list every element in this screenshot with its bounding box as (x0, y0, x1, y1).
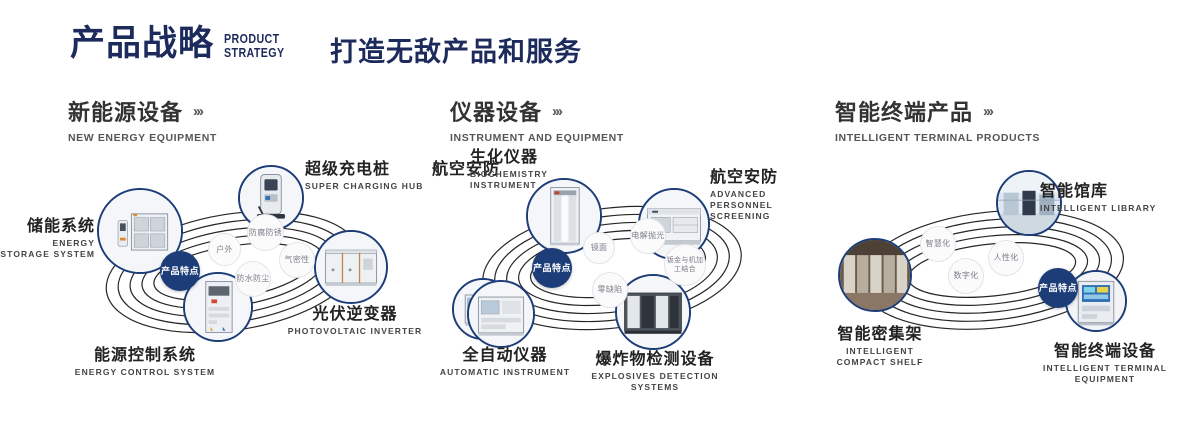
chevron-right-icon: ››› (552, 103, 561, 120)
label-photovoltaic-inverter: 光伏逆变器 PHOTOVOLTAIC INVERTER (285, 305, 425, 337)
node-label-cn: 光伏逆变器 (285, 305, 425, 324)
section-title-new-energy: 新能源设备 ››› NEW ENERGY EQUIPMENT (68, 95, 217, 144)
node-label-en: PHOTOVOLTAIC INVERTER (285, 326, 425, 337)
bubble-label: 钣金与机加工结合 (665, 256, 705, 274)
label-advanced-personnel-screening: 航空安防 ADVANCED PERSONNEL SCREENING (710, 168, 830, 222)
bubble-product-features: 产品特点 (1038, 268, 1078, 308)
node-label-cn: 能源控制系统 (45, 346, 245, 365)
page-title-en: PRODUCT STRATEGY (224, 29, 285, 60)
node-label-cn: 航空安防 (710, 168, 830, 187)
bubble-label: 零缺陷 (598, 285, 623, 295)
bubble-label: 产品特点 (161, 266, 199, 277)
label-intelligent-terminal-equipment: 智能终端设备 INTELLIGENT TERMINAL EQUIPMENT (1020, 342, 1190, 385)
cluster-new-energy: 储能系统 ENERGY STORAGE SYSTEM 超级充电桩 SUPER C… (55, 150, 405, 380)
bubble-feature-0: 户外 (208, 233, 241, 266)
node-label-en: ENERGY STORAGE SYSTEM (0, 238, 95, 260)
node-intelligent-compact-shelf[interactable] (838, 238, 912, 312)
section-title-en: NEW ENERGY EQUIPMENT (68, 132, 217, 144)
node-label-cn: 生化仪器 (470, 148, 590, 167)
chevron-right-icon: ››› (983, 103, 992, 120)
product-strategy-infographic: 产品战略 PRODUCT STRATEGY 打造无敌产品和服务 新能源设备 ››… (0, 0, 1200, 422)
node-label-cn: 爆炸物检测设备 (570, 350, 740, 369)
chevron-right-icon: ››› (193, 103, 202, 120)
bubble-label: 电解抛光 (631, 231, 664, 241)
bubble-feature-3: 气密性 (279, 242, 315, 278)
bubble-feature-1: 防腐防锈 (247, 214, 284, 251)
section-title-cn: 新能源设备 ››› (68, 95, 217, 127)
node-label-cn: 智能密集架 (820, 325, 940, 344)
bubble-feature-3: 钣金与机加工结合 (664, 244, 706, 286)
label-biochemistry-instrument: 生化仪器 BIOCHEMISTRY INSTRUMENT (470, 148, 590, 191)
section-title-text: 仪器设备 (450, 95, 542, 127)
bubble-feature-0: 智慧化 (920, 226, 956, 262)
node-label-cn: 全自动仪器 (435, 346, 575, 365)
automatic-analyzer-icon (469, 282, 533, 346)
page-subtitle: 打造无敌产品和服务 (330, 30, 582, 69)
node-label-cn: 智能馆库 (1040, 182, 1180, 201)
node-label-en: ADVANCED PERSONNEL SCREENING (710, 189, 830, 222)
compact-shelf-icon (840, 240, 910, 310)
bubble-product-features: 产品特点 (532, 248, 572, 288)
node-label-en: EXPLOSIVES DETECTION SYSTEMS (570, 371, 740, 393)
page-header: 产品战略 PRODUCT STRATEGY (70, 22, 298, 66)
section-title-cn: 智能终端产品 ››› (835, 95, 1040, 127)
bubble-feature-0: 镜面 (583, 232, 615, 264)
bubble-feature-2: 人性化 (988, 240, 1024, 276)
page-title: 产品战略 (70, 22, 214, 66)
node-label-en: INTELLIGENT LIBRARY (1040, 203, 1180, 214)
node-photovoltaic-inverter[interactable] (314, 230, 388, 304)
node-label-en: INTELLIGENT TERMINAL EQUIPMENT (1020, 363, 1190, 385)
bubble-feature-1: 数字化 (948, 258, 984, 294)
node-label-en: INTELLIGENT COMPACT SHELF (820, 346, 940, 368)
bubble-label: 户外 (216, 245, 233, 255)
node-automatic-instrument[interactable] (467, 280, 535, 348)
label-energy-control-system: 能源控制系统 ENERGY CONTROL SYSTEM (45, 346, 245, 378)
bubble-label: 产品特点 (1039, 283, 1077, 294)
node-label-en: SUPER CHARGING HUB (305, 181, 455, 192)
cluster-instrument: 航空安防 生化仪器 BIOCHEMISTRY INSTRUMENT (440, 150, 790, 380)
page-title-en-line1: PRODUCT (224, 32, 285, 46)
bubble-label: 智慧化 (926, 239, 951, 249)
bubble-label: 产品特点 (533, 263, 571, 274)
label-automatic-instrument: 全自动仪器 AUTOMATIC INSTRUMENT (435, 346, 575, 378)
bubble-product-features: 产品特点 (160, 251, 200, 291)
node-label-en: BIOCHEMISTRY INSTRUMENT (470, 169, 590, 191)
bubble-label: 镜面 (591, 243, 608, 253)
node-label-cn: 储能系统 (0, 217, 95, 236)
section-title-en: INSTRUMENT AND EQUIPMENT (450, 132, 624, 144)
section-title-instrument: 仪器设备 ››› INSTRUMENT AND EQUIPMENT (450, 95, 624, 144)
section-title-intelligent-terminal: 智能终端产品 ››› INTELLIGENT TERMINAL PRODUCTS (835, 95, 1040, 144)
section-title-cn: 仪器设备 ››› (450, 95, 624, 127)
label-energy-storage-system: 储能系统 ENERGY STORAGE SYSTEM (0, 217, 95, 260)
bubble-label: 防水防尘 (236, 274, 269, 284)
bubble-feature-2: 防水防尘 (235, 261, 271, 297)
section-title-text: 新能源设备 (68, 95, 183, 127)
bubble-feature-1: 电解抛光 (630, 218, 666, 254)
section-title-en: INTELLIGENT TERMINAL PRODUCTS (835, 132, 1040, 144)
bubble-label: 人性化 (994, 253, 1019, 263)
cluster-intelligent-terminal: 智能馆库 INTELLIGENT LIBRARY 智能密集架 INTELLIGE… (820, 160, 1180, 380)
bubble-label: 防腐防锈 (249, 228, 282, 238)
bubble-feature-2: 零缺陷 (592, 272, 628, 308)
bubble-label: 气密性 (285, 255, 310, 265)
label-intelligent-compact-shelf: 智能密集架 INTELLIGENT COMPACT SHELF (820, 325, 940, 368)
section-title-text: 智能终端产品 (835, 95, 973, 127)
node-label-cn: 智能终端设备 (1020, 342, 1190, 361)
label-intelligent-library: 智能馆库 INTELLIGENT LIBRARY (1040, 182, 1180, 214)
node-label-en: ENERGY CONTROL SYSTEM (45, 367, 245, 378)
bubble-label: 数字化 (954, 271, 979, 281)
node-label-en: AUTOMATIC INSTRUMENT (435, 367, 575, 378)
inverter-cabinet-icon (316, 232, 386, 302)
page-title-en-line2: STRATEGY (224, 46, 285, 60)
label-explosives-detection: 爆炸物检测设备 EXPLOSIVES DETECTION SYSTEMS (570, 350, 740, 393)
